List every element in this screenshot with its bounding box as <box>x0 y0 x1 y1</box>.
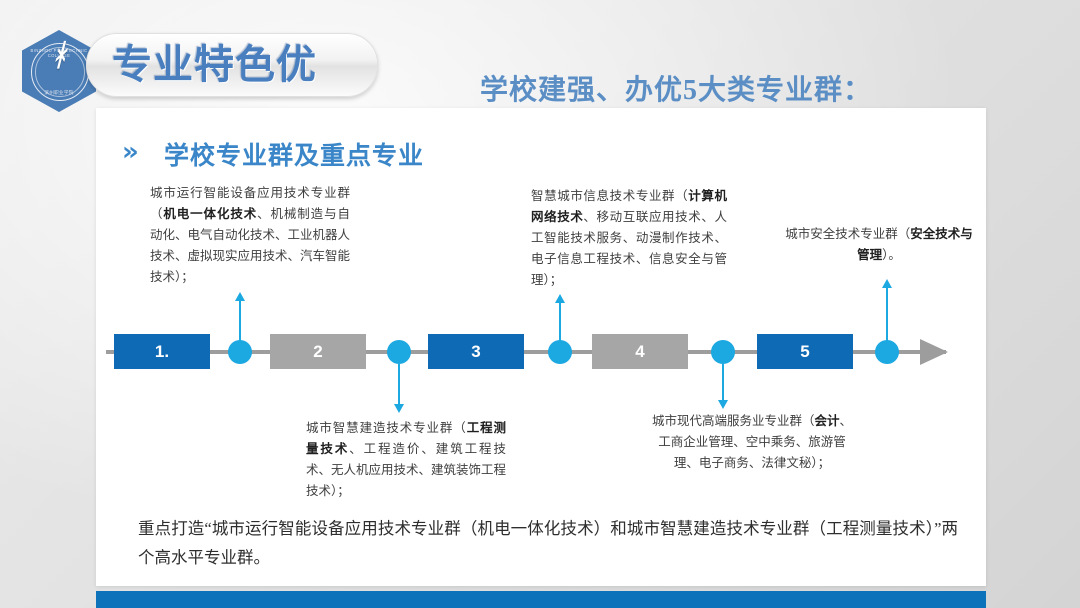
callout-4: 城市现代高端服务业专业群（会计、工商企业管理、空中乘务、旅游管理、电子商务、法律… <box>648 411 856 474</box>
callout-4-lead: 城市现代高端服务业专业群（ <box>652 414 815 428</box>
connector-arrow-up-3 <box>555 294 565 303</box>
panel-footer-bar <box>96 591 986 608</box>
timeline-dot-5[interactable] <box>875 340 899 364</box>
double-chevron-icon: » <box>122 137 135 167</box>
section-heading: 学校专业群及重点专业 <box>164 136 424 172</box>
connector-stem-4 <box>722 364 724 404</box>
connector-arrow-up-1 <box>235 292 245 301</box>
summary-text: 重点打造“城市运行智能设备应用技术专业群（机电一体化技术）和城市智慧建造技术专业… <box>138 514 958 572</box>
page-title: 学校建强、办优5大类专业群： <box>480 68 872 108</box>
callout-2-lead: 城市智慧建造技术专业群（ <box>306 421 467 435</box>
connector-stem-1 <box>239 298 241 344</box>
callout-5: 城市安全技术专业群（安全技术与管理）。 <box>781 224 977 266</box>
callout-3: 智慧城市信息技术专业群（计算机网络技术、移动互联应用技术、人工智能技术服务、动漫… <box>531 186 727 291</box>
logo-bottom-text: 滨州职业学院 <box>22 90 96 96</box>
callout-3-lead: 智慧城市信息技术专业群（ <box>531 189 688 203</box>
header-banner-label: 专业特色优 <box>112 36 317 94</box>
connector-arrow-down-4 <box>718 400 728 409</box>
timeline-node-5[interactable]: 5 <box>757 334 853 369</box>
timeline-node-4[interactable]: 4 <box>592 334 688 369</box>
timeline-node-3[interactable]: 3 <box>428 334 524 369</box>
timeline-arrow-icon <box>920 339 948 365</box>
callout-1: 城市运行智能设备应用技术专业群（机电一体化技术、机械制造与自动化、电气自动化技术… <box>150 183 350 288</box>
connector-arrow-down-2 <box>394 404 404 413</box>
connector-stem-3 <box>559 300 561 344</box>
callout-2: 城市智慧建造技术专业群（工程测量技术、工程造价、建筑工程技术、无人机应用技术、建… <box>306 418 506 502</box>
callout-5-lead: 城市安全技术专业群（ <box>785 227 910 241</box>
timeline-node-1[interactable]: 1. <box>114 334 210 369</box>
callout-1-bold: 机电一体化技术 <box>163 207 257 221</box>
timeline-dot-4[interactable] <box>711 340 735 364</box>
timeline-node-2[interactable]: 2 <box>270 334 366 369</box>
connector-stem-2 <box>398 364 400 408</box>
connector-stem-5 <box>886 285 888 343</box>
callout-5-rest: ）。 <box>882 248 901 262</box>
connector-arrow-up-5 <box>882 279 892 288</box>
callout-4-bold: 会计 <box>814 414 839 428</box>
timeline-dot-2[interactable] <box>387 340 411 364</box>
